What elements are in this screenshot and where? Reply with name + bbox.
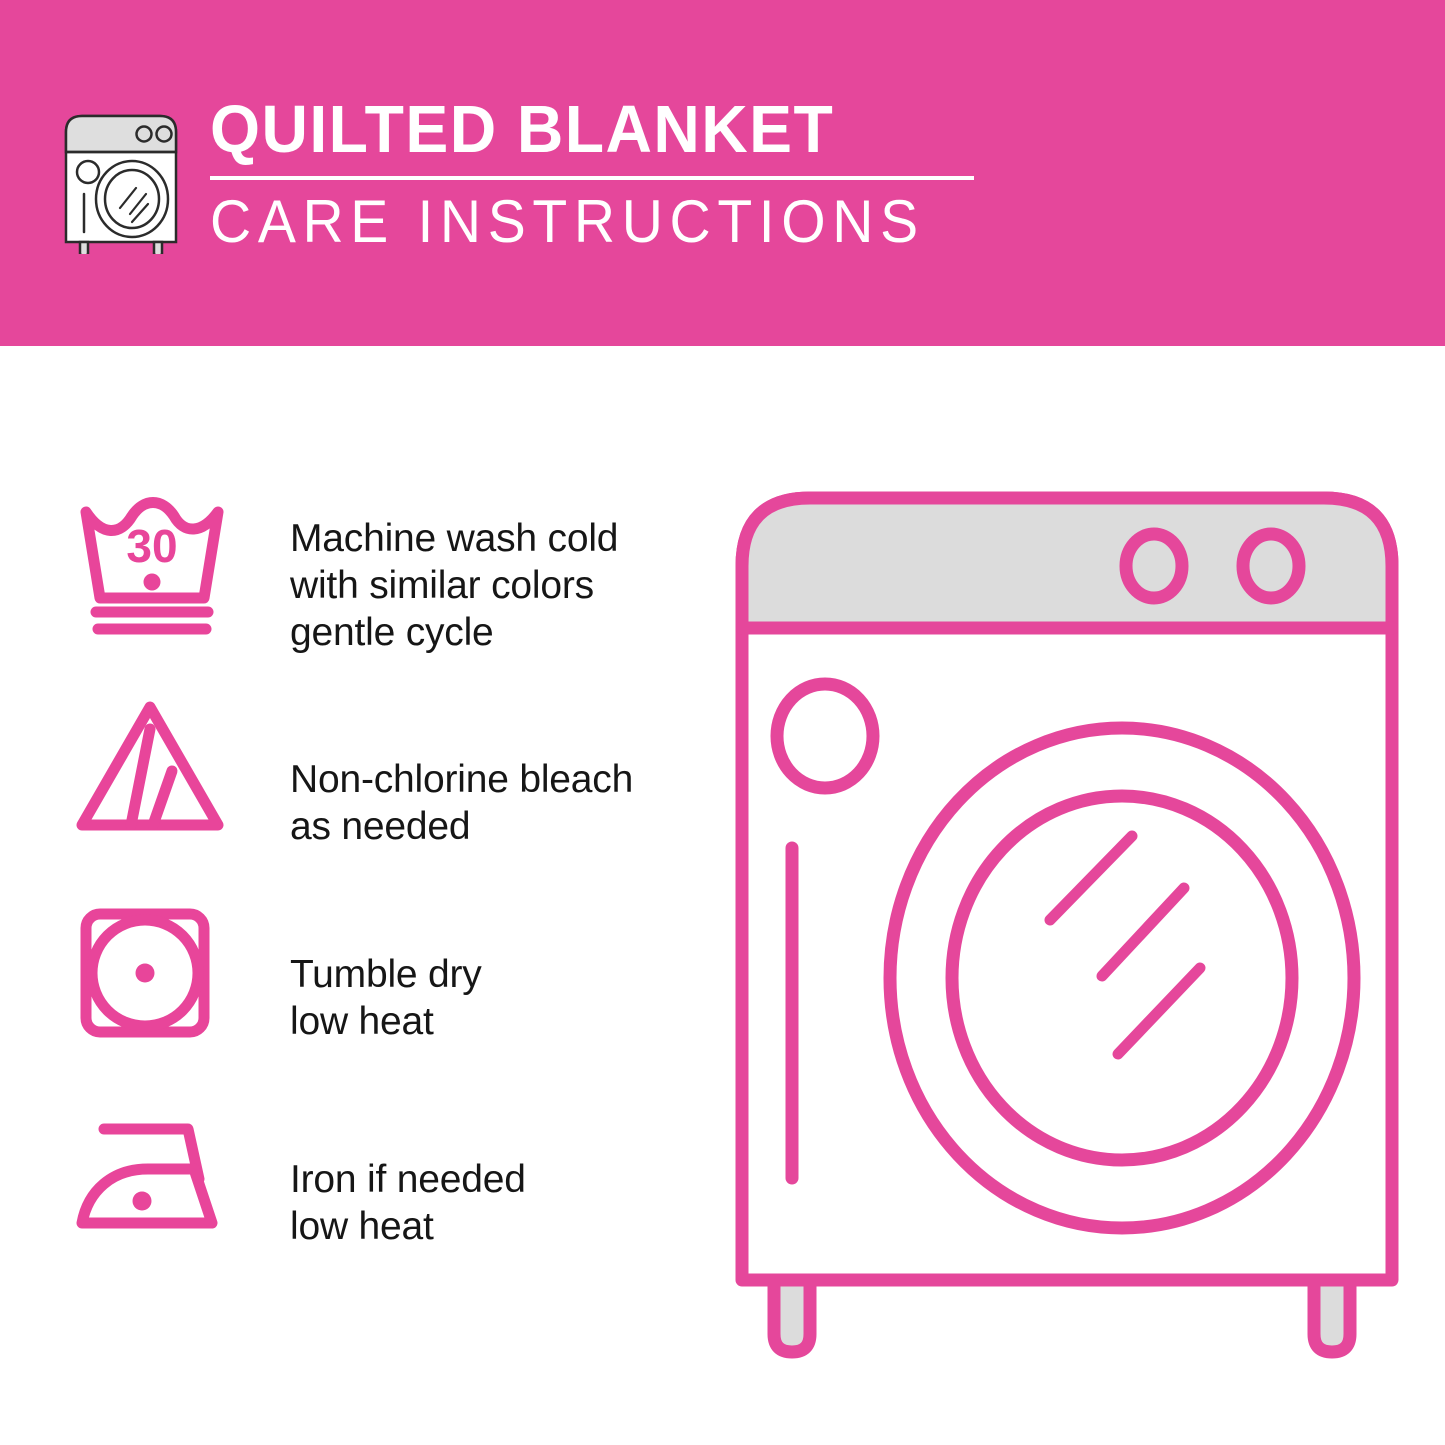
care-row: Non-chlorine bleach as needed	[72, 695, 692, 900]
machine-indicator-light	[777, 684, 873, 788]
title-divider	[210, 176, 974, 180]
page-header: QUILTED BLANKET CARE INSTRUCTIONS	[0, 0, 1445, 346]
care-row-text: Iron if needed low heat	[290, 1105, 526, 1251]
care-row-text: Non-chlorine bleach as needed	[290, 695, 633, 851]
care-instructions-page: QUILTED BLANKET CARE INSTRUCTIONS 30	[0, 0, 1445, 1445]
care-row-text: Machine wash cold with similar colors ge…	[290, 490, 618, 656]
machine-leg-left	[774, 1278, 810, 1352]
header-title-group: QUILTED BLANKET CARE INSTRUCTIONS	[210, 96, 974, 254]
machine-knob-right	[1243, 534, 1299, 598]
care-row: Iron if needed low heat	[72, 1105, 692, 1310]
bleach-triangle-icon	[72, 695, 232, 845]
header-content: QUILTED BLANKET CARE INSTRUCTIONS	[58, 96, 974, 254]
machine-knob-left	[1126, 534, 1182, 598]
page-subtitle: CARE INSTRUCTIONS	[210, 190, 936, 254]
page-title: QUILTED BLANKET	[210, 96, 943, 164]
care-row: 30 Machine wash cold with similar colors…	[72, 490, 692, 695]
tumble-dry-icon	[72, 900, 232, 1050]
wash-temperature-label: 30	[126, 520, 177, 572]
wash-tub-30-icon: 30	[72, 490, 232, 640]
washing-machine-icon	[58, 104, 184, 254]
machine-leg-right	[1314, 1278, 1350, 1352]
care-symbol-list: 30 Machine wash cold with similar colors…	[72, 490, 692, 1310]
care-row-text: Tumble dry low heat	[290, 900, 482, 1046]
iron-icon	[72, 1105, 232, 1255]
washing-machine-illustration	[722, 478, 1412, 1368]
care-row: Tumble dry low heat	[72, 900, 692, 1105]
